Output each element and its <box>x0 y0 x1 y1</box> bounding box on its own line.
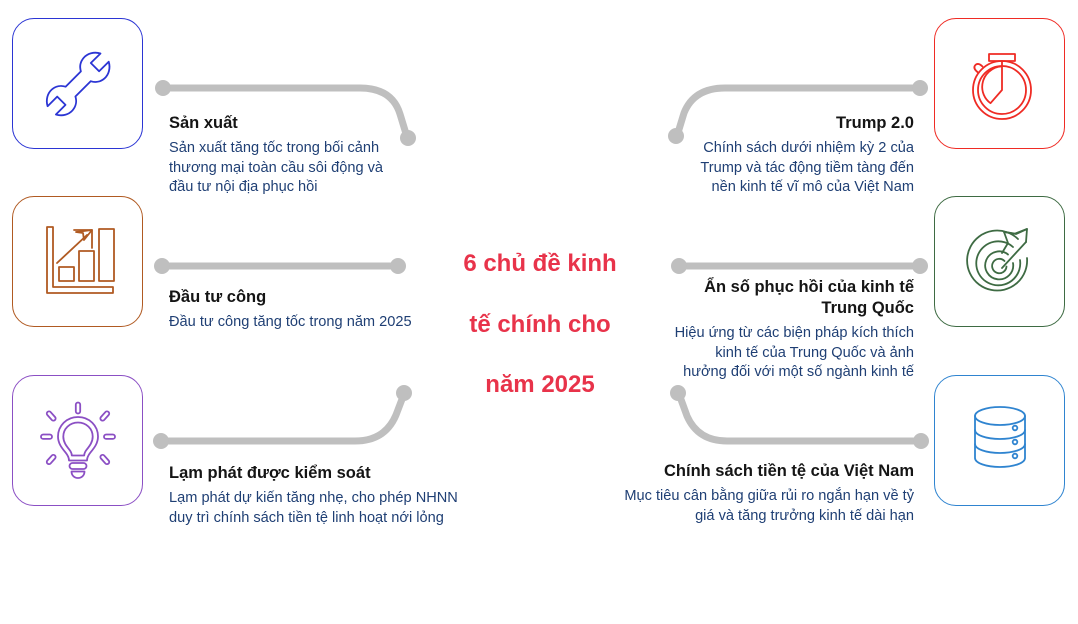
topic-description: Sản xuất tăng tốc trong bối cảnh thương … <box>169 139 409 198</box>
connector-dot <box>671 258 687 274</box>
connector-dot <box>396 385 412 401</box>
connector-dot <box>670 385 686 401</box>
topic-title: Đầu tư công <box>169 287 414 308</box>
topic-description: Chính sách dưới nhiệm kỳ 2 của Trump và … <box>680 139 914 198</box>
wrench-icon <box>35 41 121 127</box>
topic-block-trump: Trump 2.0 Chính sách dưới nhiệm kỳ 2 của… <box>680 113 914 198</box>
connector-dot <box>913 433 929 449</box>
connector-dot <box>154 258 170 274</box>
connector-dot <box>912 80 928 96</box>
topic-block-china: Ẩn số phục hồi của kinh tế Trung Quốc Hi… <box>670 277 914 383</box>
connector-inflation <box>161 394 404 441</box>
topic-title: Trump 2.0 <box>680 113 914 134</box>
center-title-line: 6 chủ đề kinh <box>437 249 643 279</box>
target-arrow-icon <box>958 220 1042 304</box>
icon-tile-manufacturing <box>12 18 143 149</box>
topic-block-manufacturing: Sản xuất Sản xuất tăng tốc trong bối cản… <box>169 113 409 198</box>
center-title: 6 chủ đề kinh tế chính cho năm 2025 <box>437 219 643 431</box>
topic-description: Hiệu ứng từ các biện pháp kích thích kin… <box>670 324 914 383</box>
icon-tile-public-investment <box>12 196 143 327</box>
stopwatch-icon <box>958 42 1042 126</box>
topic-title: Chính sách tiền tệ của Việt Nam <box>610 461 914 482</box>
topic-block-public-investment: Đầu tư công Đầu tư công tăng tốc trong n… <box>169 287 414 333</box>
lightbulb-icon <box>36 399 120 483</box>
connector-dot <box>912 258 928 274</box>
center-title-line: năm 2025 <box>437 370 643 400</box>
connector-dot <box>390 258 406 274</box>
topic-block-inflation: Lạm phát được kiểm soát Lạm phát dự kiến… <box>169 463 469 528</box>
topic-description: Mục tiêu cân bằng giữa rủi ro ngắn hạn v… <box>610 487 914 526</box>
icon-tile-monetary-policy <box>934 375 1065 506</box>
connector-monetary <box>679 394 920 441</box>
connector-dot <box>155 80 171 96</box>
connector-dot <box>153 433 169 449</box>
center-title-line: tế chính cho <box>437 310 643 340</box>
topic-description: Đầu tư công tăng tốc trong năm 2025 <box>169 313 414 333</box>
database-stack-icon <box>958 399 1042 483</box>
icon-tile-china <box>934 196 1065 327</box>
topic-title: Lạm phát được kiểm soát <box>169 463 469 484</box>
topic-block-monetary-policy: Chính sách tiền tệ của Việt Nam Mục tiêu… <box>610 461 914 526</box>
icon-tile-inflation <box>12 375 143 506</box>
topic-title: Sản xuất <box>169 113 409 134</box>
bar-chart-growth-icon <box>37 221 119 303</box>
topic-title: Ẩn số phục hồi của kinh tế Trung Quốc <box>670 277 914 319</box>
icon-tile-trump <box>934 18 1065 149</box>
infographic-canvas: Sản xuất Sản xuất tăng tốc trong bối cản… <box>0 0 1078 624</box>
topic-description: Lạm phát dự kiến tăng nhẹ, cho phép NHNN… <box>169 489 469 528</box>
